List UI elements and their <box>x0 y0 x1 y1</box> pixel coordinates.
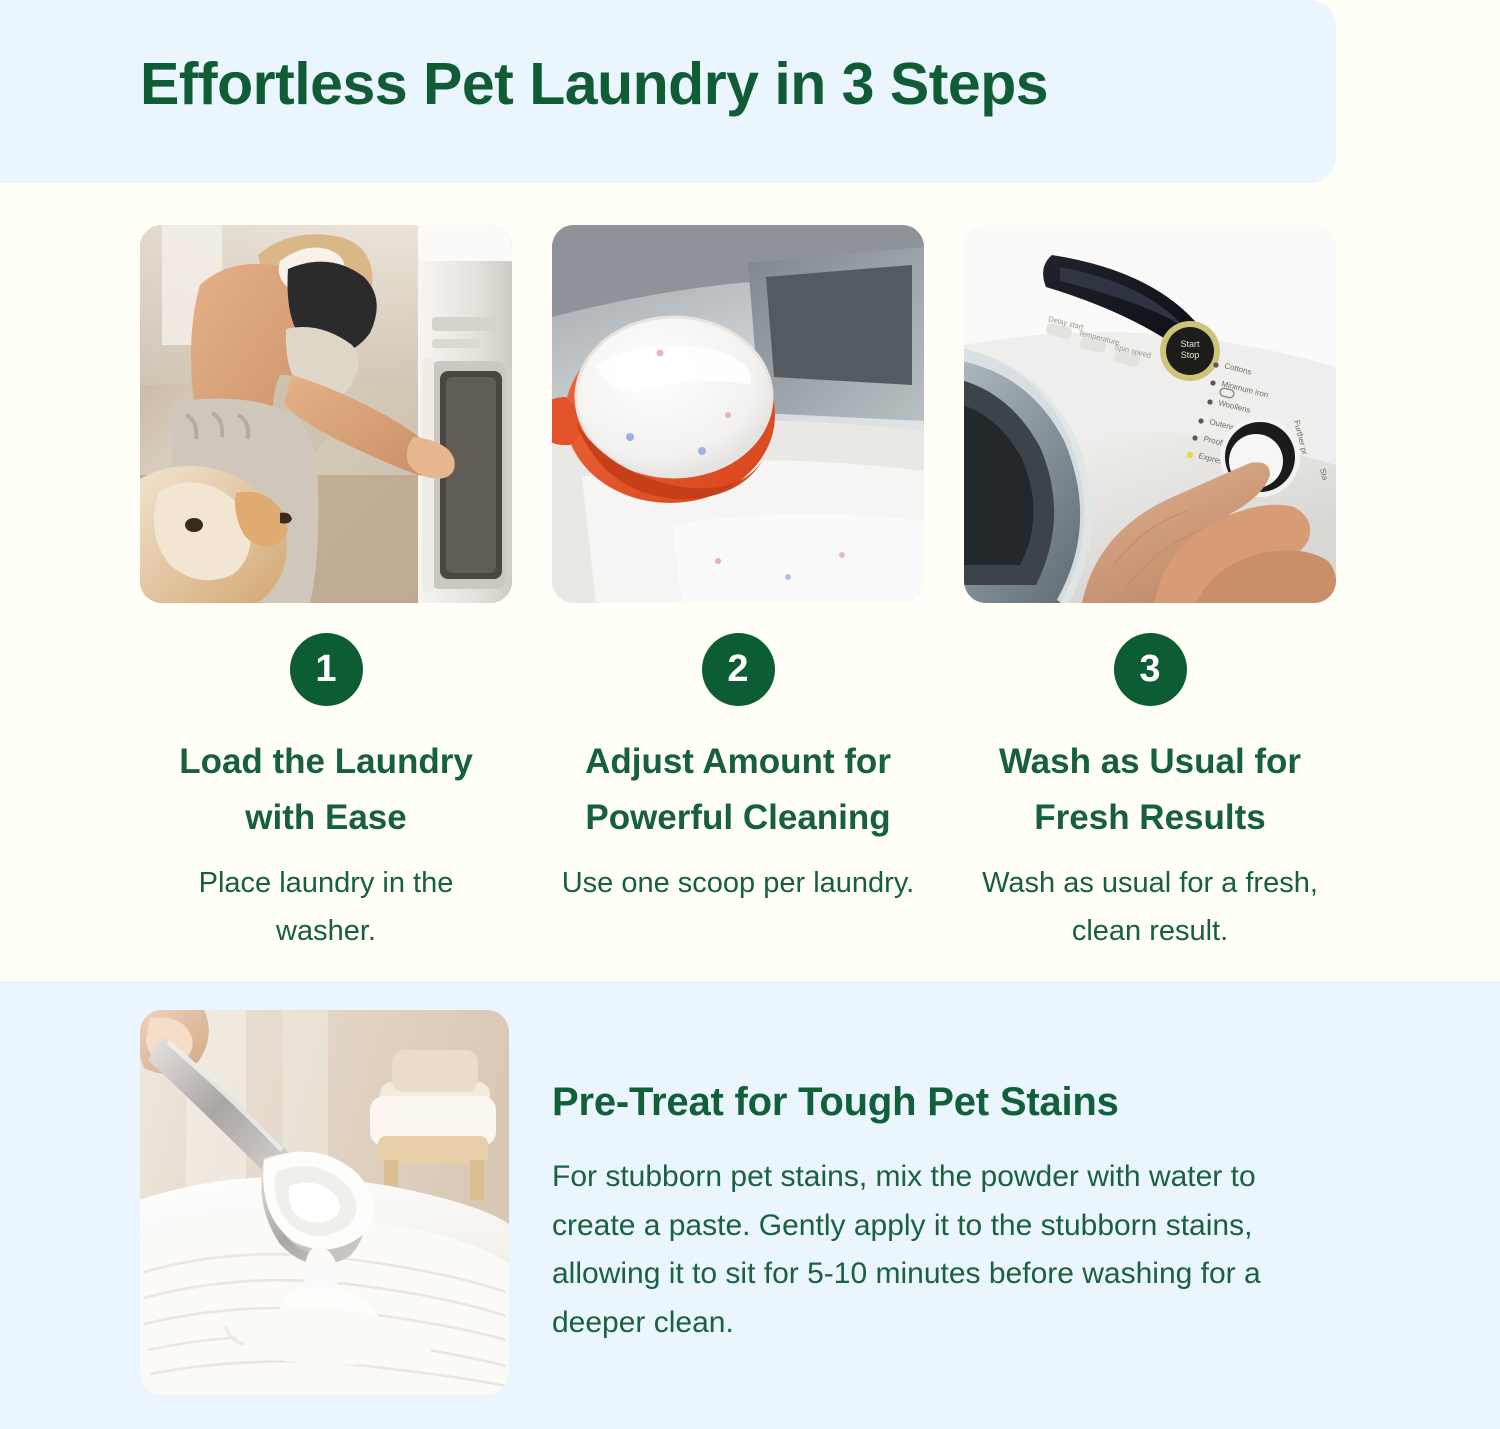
child-loading-washing-machine-with-dog-photo <box>140 225 512 603</box>
pre-treat-text-block: Pre-Treat for Tough Pet Stains For stubb… <box>552 1080 1342 1347</box>
page-title: Effortless Pet Laundry in 3 Steps <box>140 50 1048 118</box>
header-banner: Effortless Pet Laundry in 3 Steps <box>0 0 1336 183</box>
step-badge-3: 3 <box>1114 633 1187 706</box>
step-card-3: Start Stop Delay start Temperature Spin … <box>964 225 1336 956</box>
step-description-1: Place laundry in the washer. <box>146 860 506 956</box>
svg-text:Stop: Stop <box>1181 350 1200 360</box>
step-card-2: 2 Adjust Amount for Powerful Cleaning Us… <box>552 225 924 956</box>
step-badge-2: 2 <box>702 633 775 706</box>
pre-treat-heading: Pre-Treat for Tough Pet Stains <box>552 1080 1342 1125</box>
step-title-3: Wash as Usual for Fresh Results <box>970 734 1330 846</box>
step-description-2: Use one scoop per laundry. <box>558 860 918 908</box>
step-title-2: Adjust Amount for Powerful Cleaning <box>558 734 918 846</box>
svg-text:Start: Start <box>1180 339 1200 349</box>
spoon-of-paste-on-towel-photo <box>140 1010 509 1395</box>
step-title-1: Load the Laundry with Ease <box>146 734 506 846</box>
detergent-scoop-photo <box>552 225 924 603</box>
step-card-1: 1 Load the Laundry with Ease Place laund… <box>140 225 512 956</box>
steps-row: 1 Load the Laundry with Ease Place laund… <box>140 225 1336 956</box>
infographic-page: Effortless Pet Laundry in 3 Steps <box>0 0 1500 1429</box>
step-badge-1: 1 <box>290 633 363 706</box>
step-description-3: Wash as usual for a fresh, clean result. <box>970 860 1330 956</box>
pre-treat-body: For stubborn pet stains, mix the powder … <box>552 1153 1342 1347</box>
washing-machine-control-panel-photo: Start Stop Delay start Temperature Spin … <box>964 225 1336 603</box>
